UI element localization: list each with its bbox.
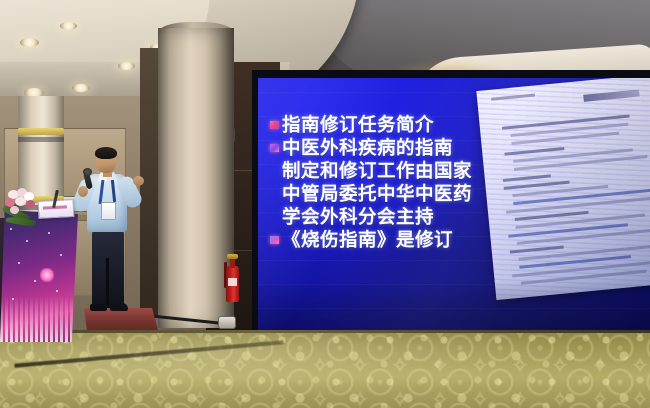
floor-edge-line xyxy=(0,330,650,333)
led-screen[interactable]: 指南修订任务简介 中医外科疾病的指南 制定和修订工作由国家 中管局委托中华中医药… xyxy=(258,78,650,372)
flower-arrangement xyxy=(2,186,54,232)
screen-sheen xyxy=(258,78,650,372)
speaker-hand-left xyxy=(78,186,88,197)
fire-extinguisher-label xyxy=(228,278,237,286)
speaker-shoe-left xyxy=(90,304,107,311)
column-stripe-shadow xyxy=(18,137,64,142)
microphone-head-icon xyxy=(83,168,92,176)
speaker-name-badge xyxy=(101,202,116,220)
speaker-shoe-right xyxy=(110,303,128,311)
speaker-leg-gap xyxy=(106,258,109,308)
column-stripe xyxy=(18,128,64,135)
downlight-icon xyxy=(20,38,39,47)
downlight-icon xyxy=(60,22,77,30)
podium-star-graphic xyxy=(40,268,54,282)
speaker-hand-right xyxy=(133,176,144,186)
podium-skyline-graphic xyxy=(0,296,78,342)
speaker-platform xyxy=(84,308,158,330)
fire-extinguisher-neck xyxy=(230,258,235,268)
carpet-swirl-pattern xyxy=(0,330,650,408)
fire-extinguisher-handle xyxy=(227,254,238,259)
downlight-icon xyxy=(118,62,135,70)
downlight-icon xyxy=(72,84,90,92)
center-column xyxy=(158,28,234,328)
floor-power-outlet xyxy=(218,316,236,329)
conference-photo: 指南修订任务简介 中医外科疾病的指南 制定和修订工作由国家 中管局委托中华中医药… xyxy=(0,0,650,408)
speaker-hair xyxy=(95,147,117,159)
